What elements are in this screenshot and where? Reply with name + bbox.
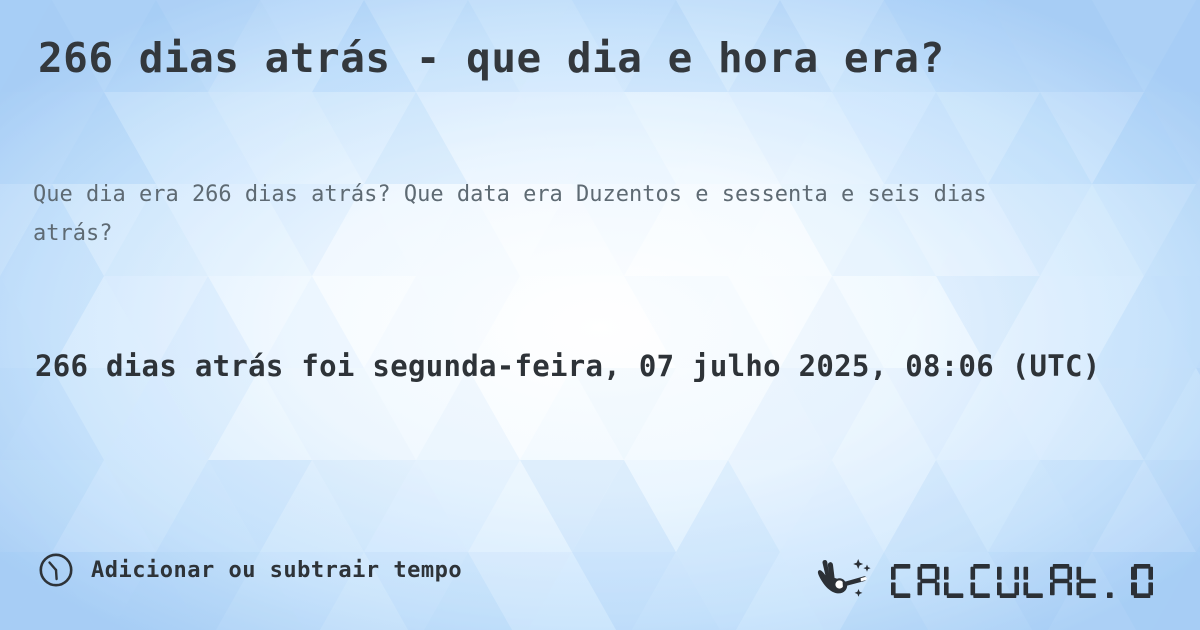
brand-wordmark: CALCULAT.IO: [889, 556, 1175, 604]
answer-statement: 266 dias atrás foi segunda-feira, 07 jul…: [35, 345, 1115, 387]
magic-wand-hand-icon: [817, 556, 883, 604]
intro-paragraph: Que dia era 266 dias atrás? Que data era…: [33, 175, 1073, 253]
brand-logo[interactable]: CALCULAT.IO: [817, 556, 1175, 604]
brand-wordmark-text: [889, 560, 1175, 604]
add-subtract-time-link[interactable]: Adicionar ou subtrair tempo: [38, 552, 462, 588]
clock-icon: [38, 552, 74, 588]
page-title: 266 dias atrás - que dia e hora era?: [38, 33, 1178, 83]
add-subtract-time-label: Adicionar ou subtrair tempo: [91, 558, 462, 583]
